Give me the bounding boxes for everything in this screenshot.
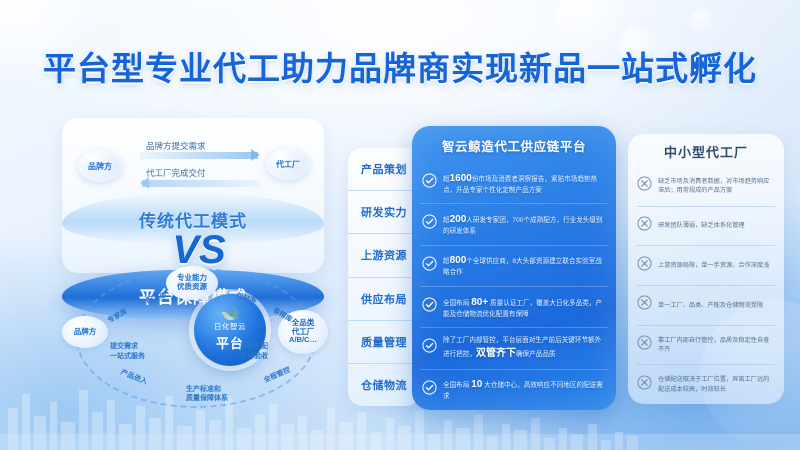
- check-circle-icon: [422, 214, 437, 234]
- platform-item-text: 除了工厂内部管控，平台层面对生产前后关键环节额外进行把控，双管齐下确保产品品质: [443, 336, 606, 361]
- flow-label-forward: 品牌方提交需求: [146, 140, 206, 152]
- criteria-row-product-planning: 产品策划: [348, 148, 420, 191]
- cross-circle-icon: [637, 176, 652, 196]
- small-factory-item-text: 单一工厂、品类、产能及仓储物流受限: [658, 301, 763, 310]
- small-factory-item: 研发团队薄弱，缺乏体系化管理: [637, 207, 775, 247]
- criteria-row-logistics: 仓储物流: [348, 364, 420, 406]
- small-factory-panel: 中小型代工厂 缺乏市场及消费者数据，对市场趋势响应滞后；用常规成的产品方案 研发…: [628, 134, 784, 404]
- criteria-row-rnd: 研发实力: [348, 191, 420, 234]
- platform-item: 超200人研发专家团，700个成熟配方，行业龙头级别的研发体系: [420, 204, 608, 245]
- check-circle-icon: [422, 338, 437, 358]
- criteria-column: 产品策划 研发实力 上游资源 供应布局 质量管理 仓储物流: [348, 148, 420, 406]
- small-factory-item: 上游资源局限，单一手资源，合作深度浅: [637, 246, 775, 286]
- core-brand-name: 日化智云: [214, 321, 246, 332]
- platform-item: 超1600份市场及消费者洞察报告，紧贴市场趋势热点，升品专家个性化定制产品方案: [420, 163, 608, 204]
- platform-item-text: 超800个全球供应商，8大头部资源建立联合实验室战略合作: [443, 253, 606, 278]
- arrow-forward-icon: [140, 152, 258, 159]
- whale-icon: 🐋: [221, 308, 240, 320]
- ring-label: 严格匹配: [240, 341, 268, 351]
- criteria-row-quality: 质量管理: [348, 321, 420, 364]
- cross-circle-icon: [637, 216, 652, 236]
- ecosystem-node-capability: 专业能力 优质资源: [166, 266, 218, 300]
- cross-circle-icon: [637, 256, 652, 276]
- capability-line-2: 优质资源: [177, 283, 207, 292]
- small-factory-item-text: 研发团队薄弱，缺乏体系化管理: [658, 221, 745, 230]
- platform-panel-heading: 智云鲸造代工供应链平台: [420, 126, 608, 163]
- check-circle-icon: [422, 256, 437, 276]
- platform-item: 全国布局 80+ 质量认证工厂，覆盖大日化多品类，产能及仓储物流优化配置有保障: [420, 287, 608, 328]
- allcat-line-3: A/B/C…: [289, 336, 317, 345]
- small-factory-heading: 中小型代工厂: [637, 134, 775, 167]
- platform-item-text: 全国布局 10 大仓储中心，高效响应不同地区的配送需求: [443, 377, 606, 402]
- small-factory-item: 缺乏市场及消费者数据，对市场趋势响应滞后；用常规成的产品方案: [637, 167, 775, 207]
- platform-item-text: 超200人研发专家团，700个成熟配方，行业龙头级别的研发体系: [443, 212, 606, 237]
- platform-advantage-panel: 智云鲸造代工供应链平台 超1600份市场及消费者洞察报告，紧贴市场趋势热点，升品…: [412, 126, 616, 410]
- platform-item: 超800个全球供应商，8大头部资源建立联合实验室战略合作: [420, 246, 608, 287]
- small-factory-item-text: 仓储配送取决于工厂位置，异离工厂远的配送成本较高，时效较长: [658, 375, 775, 394]
- small-factory-item: 单一工厂、品类、产能及仓储物流受限: [637, 286, 775, 326]
- flow-label-backward: 代工厂完成交付: [146, 167, 206, 179]
- flow-node-factory: 代工厂: [266, 148, 310, 180]
- check-circle-icon: [422, 173, 437, 193]
- small-factory-item: 靠工厂内部自行管控，品质及稳定性自查不齐: [637, 326, 775, 366]
- small-factory-item-text: 缺乏市场及消费者数据，对市场趋势响应滞后；用常规成的产品方案: [658, 177, 775, 196]
- platform-item-text: 全国布局 80+ 质量认证工厂，覆盖大日化多品类，产能及仓储物流优化配置有保障: [443, 295, 606, 320]
- infographic-canvas: 平台型专业代工助力品牌商实现新品一站式孵化 品牌方 代工厂 品牌方提交需求 代工…: [0, 0, 800, 450]
- cross-circle-icon: [637, 295, 652, 315]
- page-title: 平台型专业代工助力品牌商实现新品一站式孵化: [0, 42, 800, 90]
- cross-circle-icon: [637, 375, 652, 395]
- criteria-row-upstream: 上游资源: [348, 234, 420, 277]
- flow-node-brand: 品牌方: [78, 150, 122, 182]
- platform-item: 除了工厂内部管控，平台层面对生产前后关键环节额外进行把控，双管齐下确保产品品质: [420, 328, 608, 369]
- ecosystem-diagram: 专业能力 优质资源 品牌方 全品类 代工厂 A/B/C… 🐋 日化智云 平台 专…: [58, 272, 330, 404]
- platform-item-text: 超1600份市场及消费者洞察报告，紧贴市场趋势热点，升品专家个性化定制产品方案: [443, 171, 606, 196]
- platform-item: 全国布局 10 大仓储中心，高效响应不同地区的配送需求: [420, 370, 608, 410]
- ring-label: 一站式服务: [110, 351, 145, 361]
- ring-label: 交付验收: [240, 351, 268, 361]
- cross-circle-icon: [637, 335, 652, 355]
- criteria-row-supply: 供应布局: [348, 278, 420, 321]
- ring-label: 提交需求: [110, 341, 138, 351]
- check-circle-icon: [422, 297, 437, 317]
- ring-label: 质量保障体系: [186, 393, 228, 403]
- ecosystem-node-brand: 品牌方: [62, 316, 108, 348]
- decorative-bubble: [690, 8, 716, 34]
- check-circle-icon: [422, 380, 437, 400]
- small-factory-item-text: 靠工厂内部自行管控，品质及稳定性自查不齐: [658, 336, 775, 355]
- arrow-backward-icon: [142, 180, 260, 187]
- small-factory-item-text: 上游资源局限，单一手资源，合作深度浅: [658, 261, 769, 270]
- small-factory-item: 仓储配送取决于工厂位置，异离工厂远的配送成本较高，时效较长: [637, 365, 775, 404]
